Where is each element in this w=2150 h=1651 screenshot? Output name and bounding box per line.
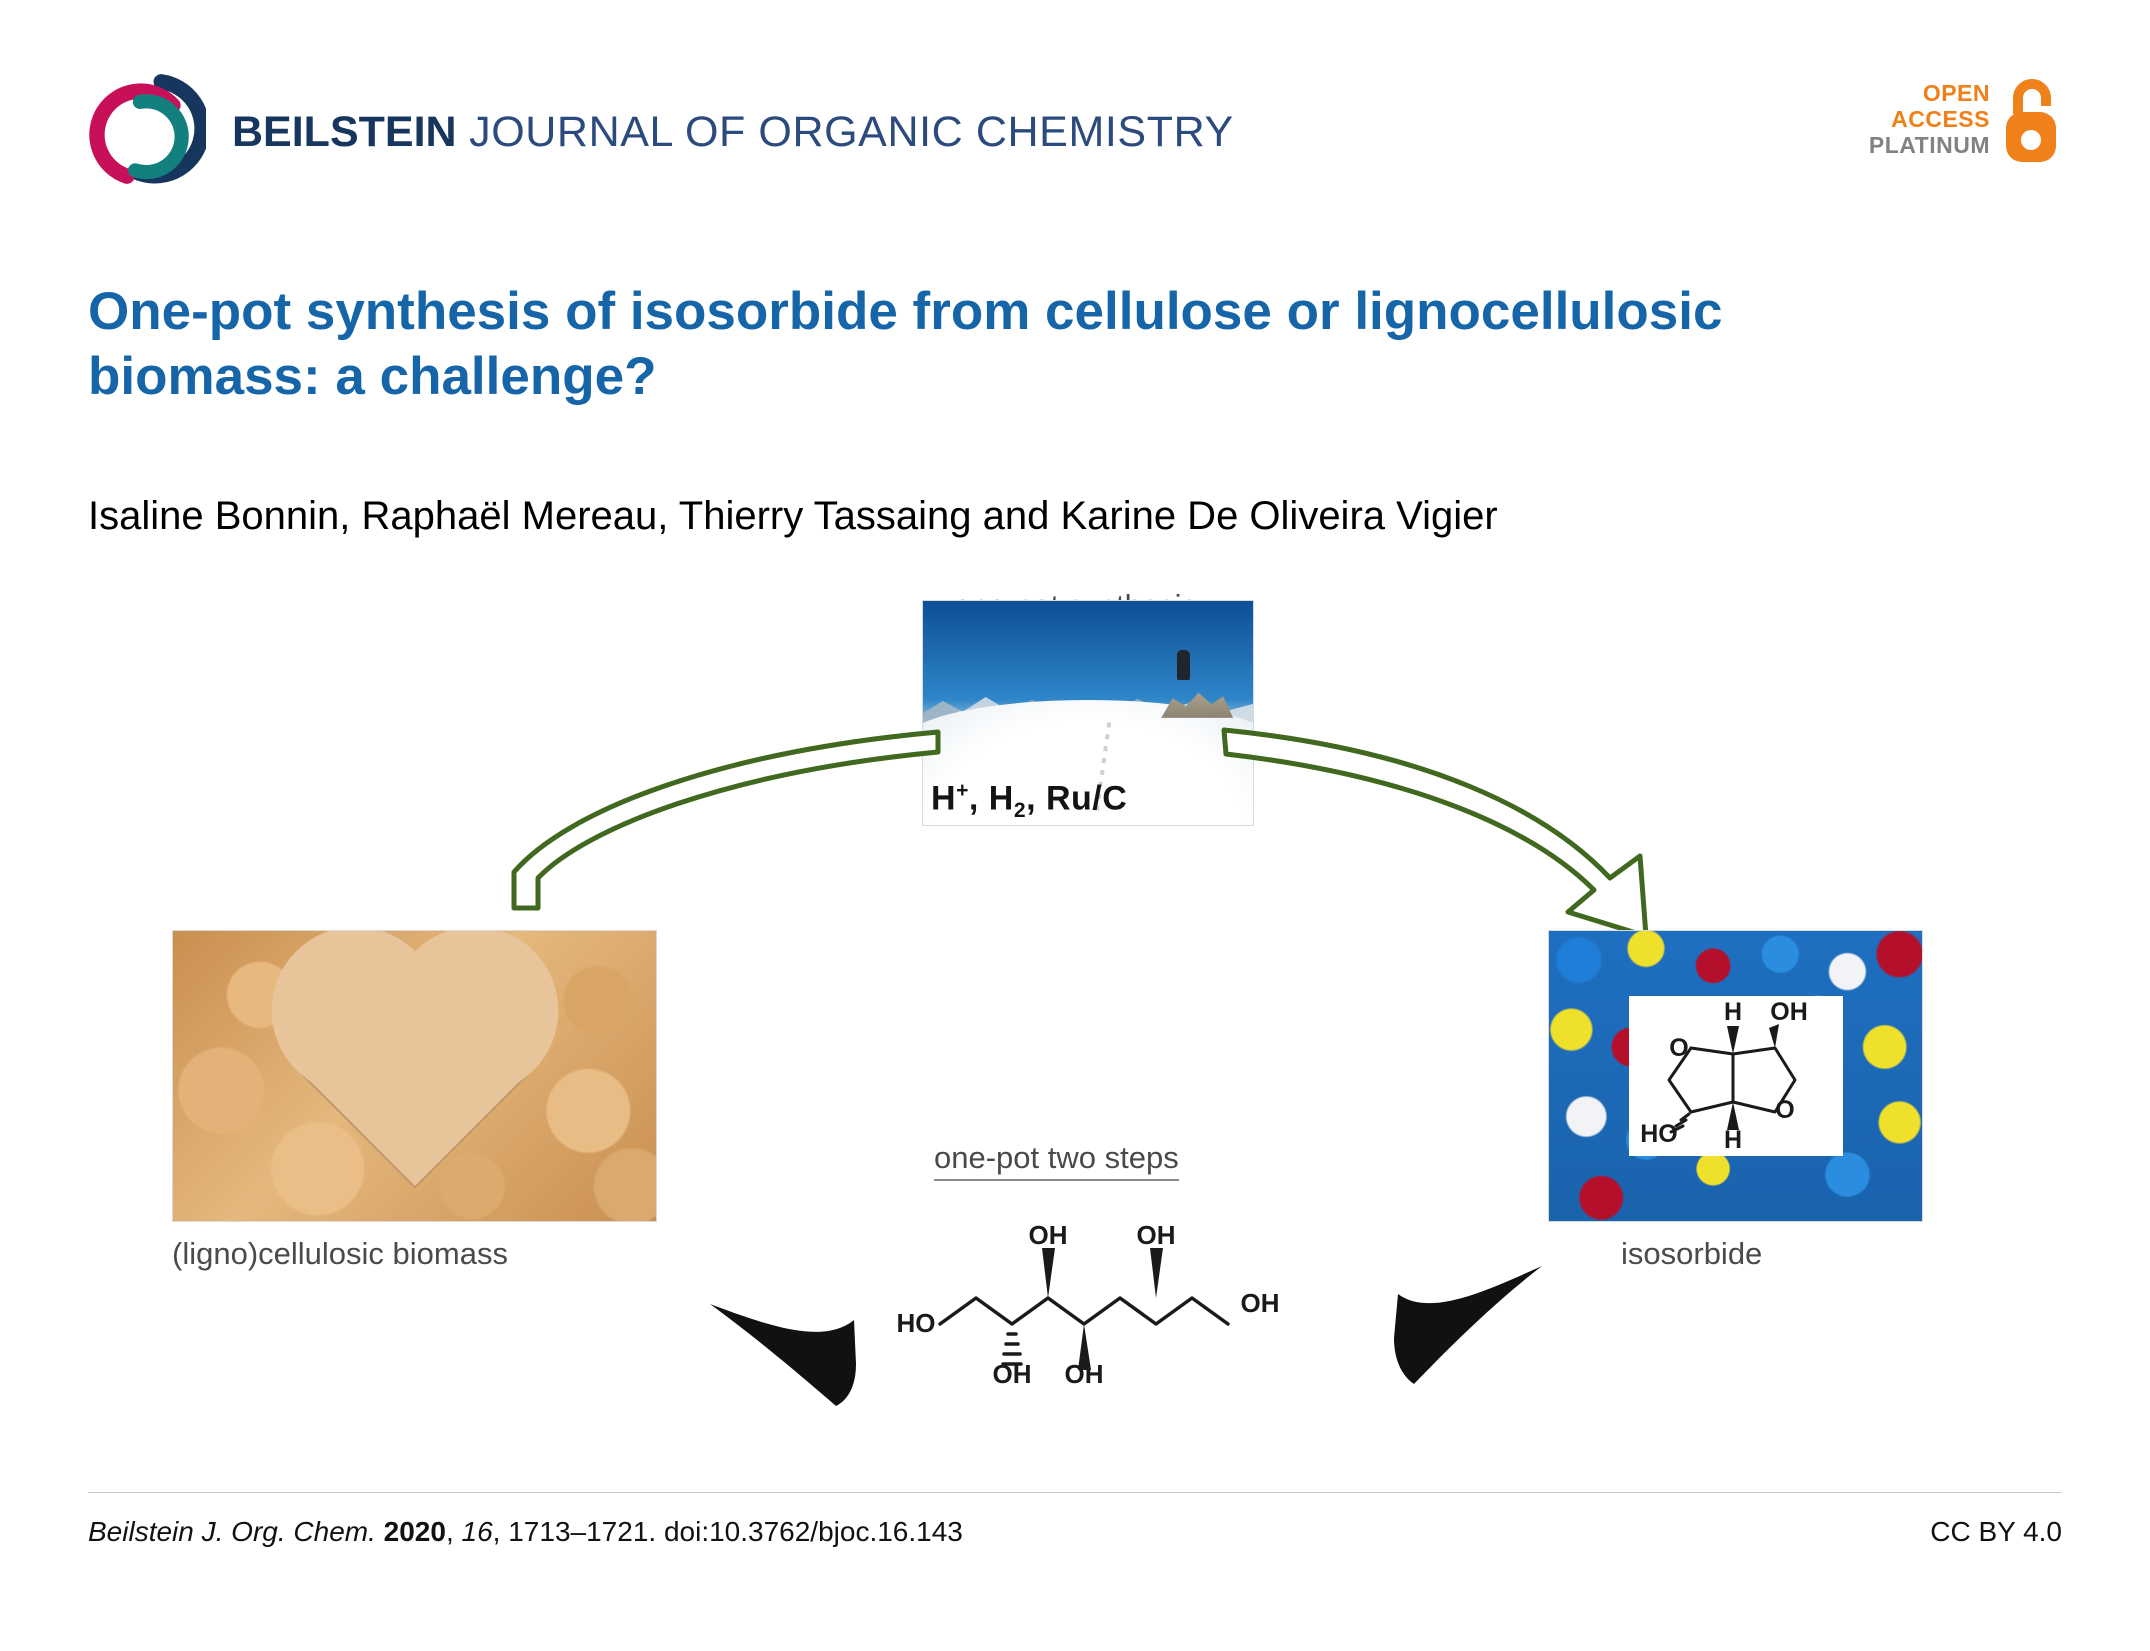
journal-title: BEILSTEIN JOURNAL OF ORGANIC CHEMISTRY [232, 105, 1234, 154]
beilstein-triple-arc-logo [88, 70, 206, 188]
open-access-badge: OPEN ACCESS PLATINUM [1869, 74, 2062, 166]
graphical-abstract: one-pot synthesis H+, H2, Ru/C (lign [88, 600, 2062, 1480]
sorbitol-label-oh-2: OH [1137, 1220, 1176, 1250]
black-arrow-left [704, 1290, 894, 1420]
citation-journal: Beilstein J. Org. Chem. [88, 1516, 376, 1547]
journal-title-bold: BEILSTEIN [232, 108, 457, 156]
sorbitol-label-oh-5: OH [1241, 1288, 1280, 1318]
label-one-pot-two-steps: one-pot two steps [934, 1140, 1179, 1181]
wood-logs-photo [172, 930, 657, 1222]
sorbitol-label-ho: HO [897, 1308, 936, 1338]
journal-branding: BEILSTEIN JOURNAL OF ORGANIC CHEMISTRY [88, 70, 1234, 188]
citation-pages: 1713–1721. [508, 1516, 656, 1547]
caption-isosorbide: isosorbide [1621, 1236, 1762, 1275]
article-cover-page: BEILSTEIN JOURNAL OF ORGANIC CHEMISTRY O… [0, 0, 2150, 1651]
iso-label-o-right: O [1775, 1096, 1794, 1124]
page-title: One-pot synthesis of isosorbide from cel… [88, 280, 1808, 409]
iso-label-ho: HO [1640, 1120, 1678, 1148]
plastic-pellets-photo: H H OH HO O O [1548, 930, 1923, 1222]
citation-comma2: , [493, 1516, 501, 1547]
black-arrow-right [1358, 1260, 1548, 1400]
isosorbide-structure: H H OH HO O O [1629, 996, 1843, 1156]
caption-biomass: (ligno)cellulosic biomass [172, 1236, 508, 1275]
open-access-line-access: ACCESS [1891, 107, 1990, 133]
log-stack [173, 931, 656, 1221]
open-access-words: OPEN ACCESS PLATINUM [1869, 81, 1990, 158]
green-arrow-left [418, 660, 978, 920]
open-access-line-open: OPEN [1923, 81, 1990, 107]
citation-volume: 16 [462, 1516, 493, 1547]
sorbitol-label-oh-3: OH [993, 1359, 1032, 1385]
heart-shaped-logs [296, 951, 534, 1189]
open-access-line-platinum: PLATINUM [1869, 133, 1990, 159]
hiker-figure [1177, 650, 1190, 680]
sorbitol-label-oh-4: OH [1065, 1359, 1104, 1385]
page-header: BEILSTEIN JOURNAL OF ORGANIC CHEMISTRY O… [88, 70, 2062, 190]
sorbitol-structure-figure: HO OH OH OH OH OH [894, 1220, 1304, 1385]
journal-title-light: JOURNAL OF ORGANIC CHEMISTRY [457, 108, 1234, 156]
citation-year: 2020 [384, 1516, 446, 1547]
iso-label-oh: OH [1770, 998, 1808, 1026]
iso-label-o-left: O [1669, 1034, 1688, 1062]
citation-comma: , [446, 1516, 454, 1547]
citation: Beilstein J. Org. Chem. 2020, 16, 1713–1… [88, 1516, 963, 1548]
footer-divider [88, 1492, 2062, 1493]
iso-label-h-top: H [1723, 998, 1741, 1026]
green-arrow-right [1216, 660, 1696, 960]
citation-doi[interactable]: doi:10.3762/bjoc.16.143 [664, 1516, 963, 1547]
isosorbide-structure-inset: H H OH HO O O [1629, 996, 1843, 1156]
sorbitol-structure: HO OH OH OH OH OH [894, 1220, 1304, 1385]
sorbitol-label-oh-1: OH [1029, 1220, 1068, 1250]
author-list: Isaline Bonnin, Raphaël Mereau, Thierry … [88, 492, 2038, 540]
open-padlock-icon [2000, 74, 2062, 166]
iso-label-h-bottom: H [1723, 1126, 1741, 1154]
license-label: CC BY 4.0 [1930, 1516, 2062, 1548]
